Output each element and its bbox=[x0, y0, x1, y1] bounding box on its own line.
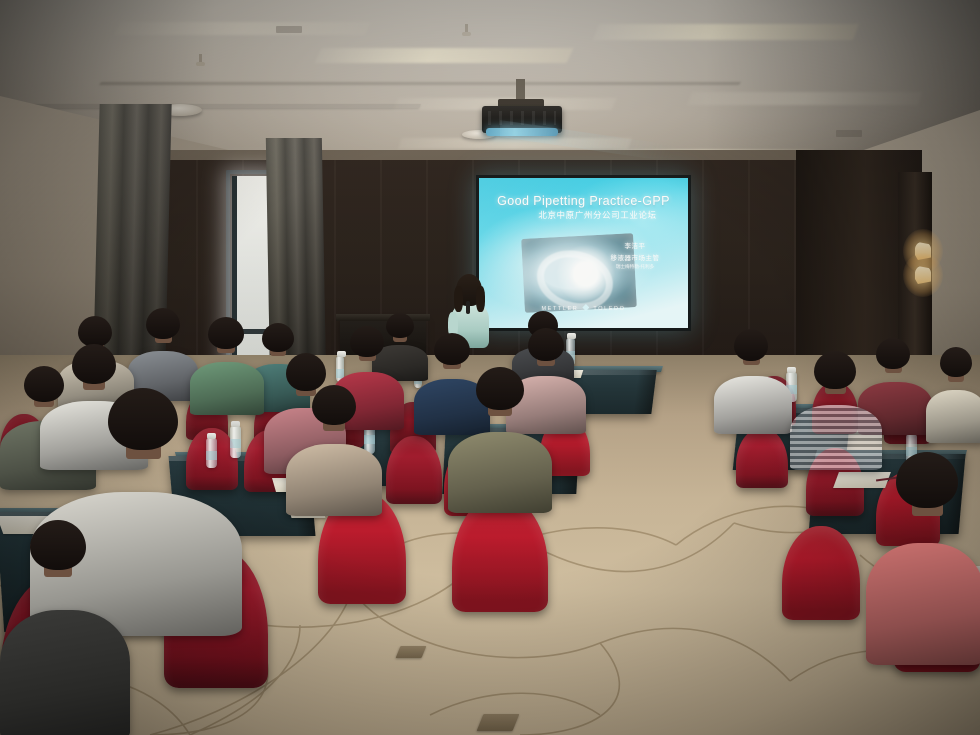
person-torso bbox=[866, 543, 980, 665]
presenter-hair-side bbox=[476, 286, 485, 312]
person-head bbox=[386, 313, 414, 338]
logo-diamond-icon bbox=[582, 304, 589, 311]
person-head bbox=[72, 344, 116, 384]
person-head bbox=[108, 388, 178, 450]
floor-outlet-plate bbox=[477, 714, 520, 731]
slide-speaker-dept: 瑞士梅特勒-托利多 bbox=[600, 264, 670, 270]
slide-speaker-block: 李洁平 移液器市场主管 瑞士梅特勒-托利多 bbox=[600, 240, 670, 270]
person-torso bbox=[926, 390, 980, 443]
attendee-right-white-polo bbox=[714, 352, 792, 432]
person-head bbox=[30, 520, 86, 570]
attendee-mid-beige-woman bbox=[286, 414, 382, 514]
person-head bbox=[286, 353, 326, 391]
person-head bbox=[528, 328, 564, 361]
attendee-right-cream-top bbox=[926, 368, 980, 442]
person-head bbox=[78, 316, 112, 347]
presenter-hair-side bbox=[454, 286, 463, 312]
person-head bbox=[434, 333, 470, 365]
attendee-right-striped-polo bbox=[790, 378, 882, 468]
person-head bbox=[350, 326, 384, 357]
attendee-left-green-tee bbox=[190, 340, 264, 414]
person-head bbox=[146, 308, 180, 339]
person-torso bbox=[714, 376, 792, 434]
person-torso bbox=[448, 432, 552, 513]
slide-subtitle: 北京中原广州分公司工业论坛 bbox=[479, 209, 688, 221]
person-head bbox=[876, 338, 910, 369]
person-torso bbox=[0, 610, 130, 735]
attendee-mid-khaki-back bbox=[448, 398, 552, 510]
person-torso bbox=[790, 405, 882, 470]
slide-brand-logo: METTLERTOLEDO bbox=[479, 304, 688, 312]
person-torso bbox=[190, 362, 264, 415]
projection-screen: Good Pipetting Practice-GPP 北京中原广州分公司工业论… bbox=[479, 178, 688, 328]
bottle-cap bbox=[231, 421, 240, 427]
person-head bbox=[896, 452, 958, 508]
attendee-right-salmon-front bbox=[866, 492, 980, 662]
person-head bbox=[262, 323, 294, 352]
slide-speaker-name: 李洁平 bbox=[600, 240, 670, 250]
wall-sconce-lower bbox=[912, 262, 934, 288]
person-torso bbox=[286, 444, 382, 516]
slide-title: Good Pipetting Practice-GPP bbox=[479, 194, 688, 208]
person-head bbox=[734, 329, 768, 361]
microphone bbox=[466, 301, 470, 314]
floor-outlet-plate bbox=[396, 646, 427, 658]
slide-speaker-title: 移液器市场主管 bbox=[600, 252, 670, 262]
attendee-front-left-dark bbox=[0, 556, 130, 735]
logo-text-right: TOLEDO bbox=[593, 306, 625, 312]
lectern-top bbox=[336, 314, 430, 321]
sconce-shade bbox=[915, 266, 931, 284]
person-head bbox=[312, 385, 356, 425]
person-head bbox=[814, 351, 856, 389]
projector-vents bbox=[488, 111, 556, 125]
person-head bbox=[940, 347, 972, 377]
conference-room-photo: Good Pipetting Practice-GPP 北京中原广州分公司工业论… bbox=[0, 0, 980, 735]
person-head bbox=[208, 317, 244, 349]
person-head bbox=[476, 367, 524, 410]
